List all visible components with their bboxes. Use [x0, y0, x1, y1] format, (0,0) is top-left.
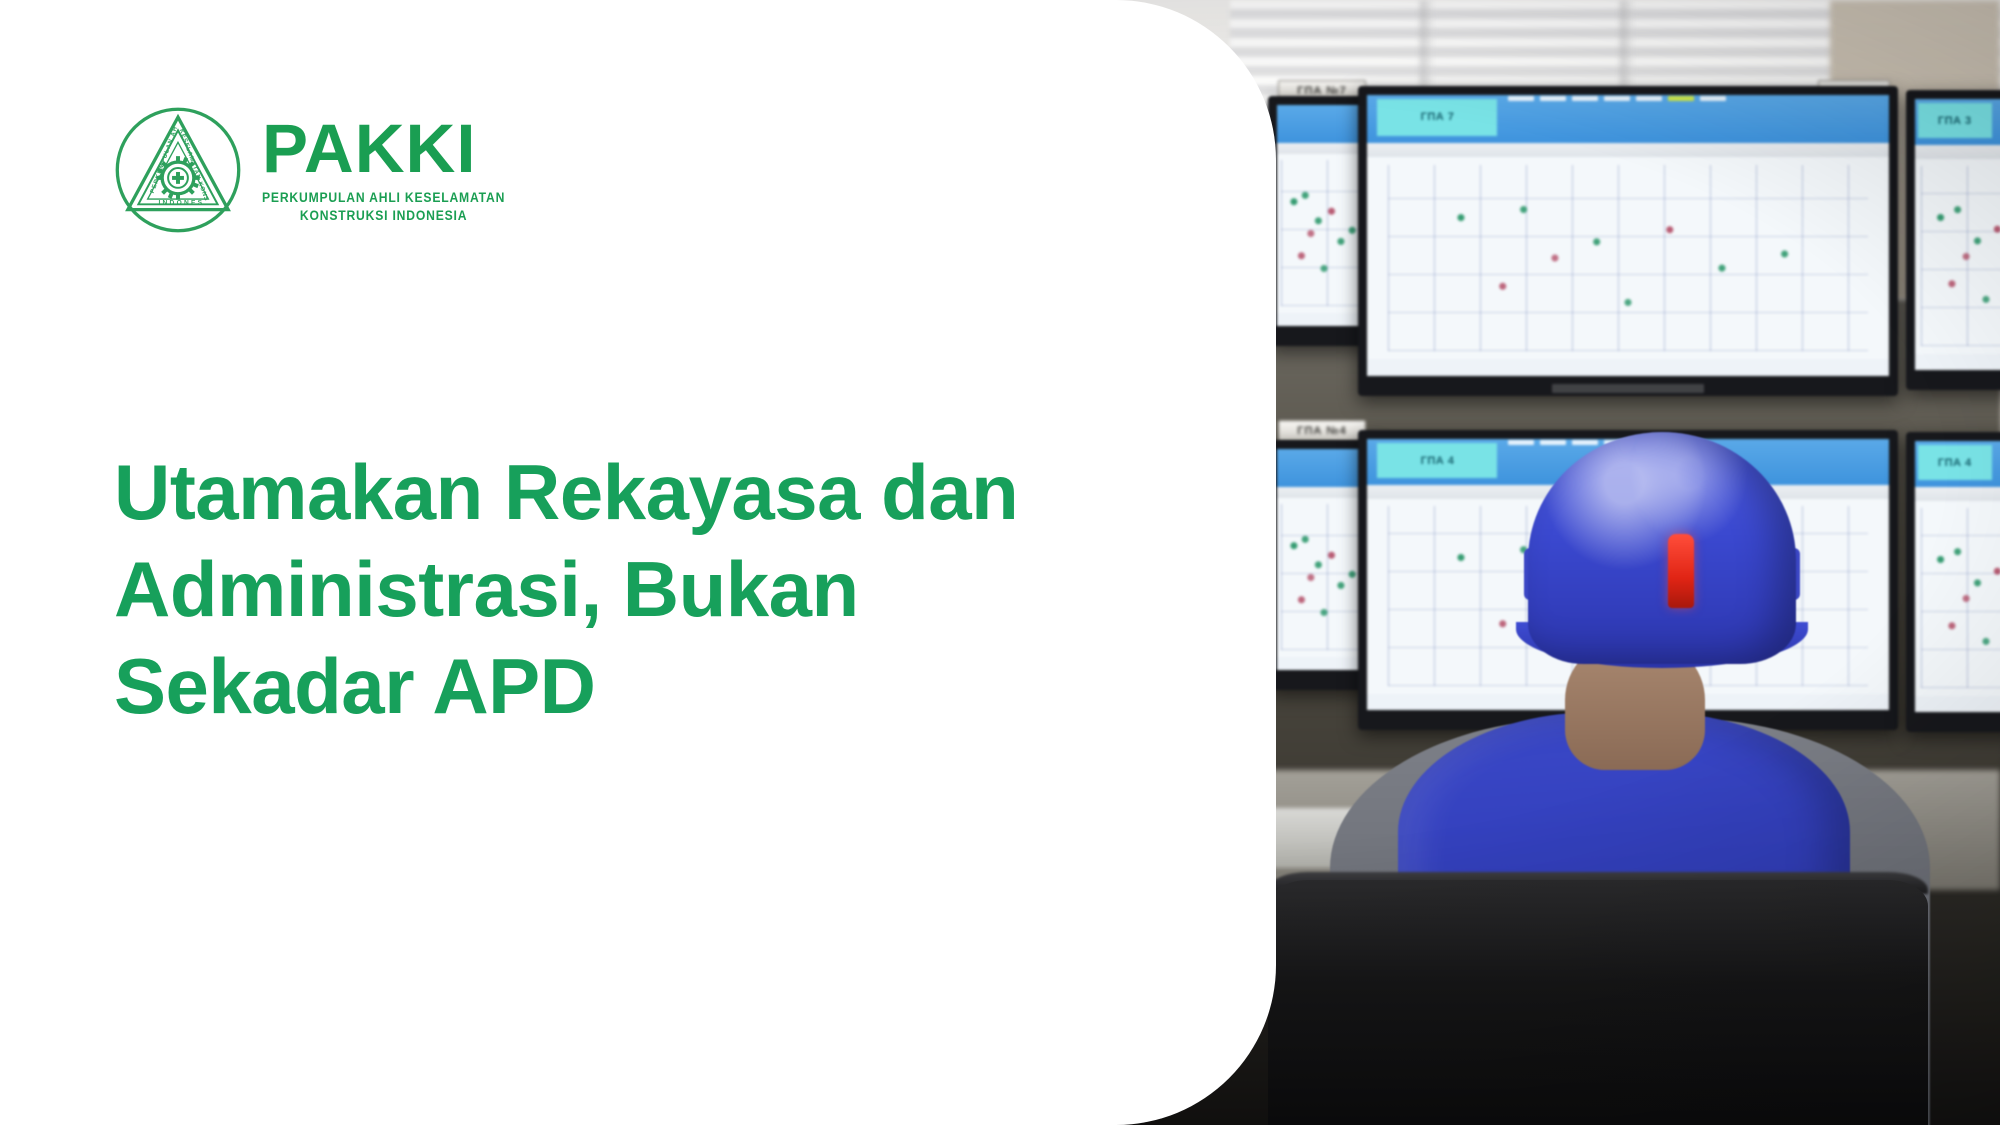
scada-screen-tag: ГПА 7 [1377, 99, 1497, 136]
scada-tool-icon [1508, 96, 1534, 101]
scada-subbar [1277, 487, 1371, 498]
pakki-logo[interactable]: PERKUMPULAN AHLI KESELAMATAN KONSTRUKSI … [112, 104, 532, 236]
monitor-right-top: ГПА 3 [1906, 90, 2000, 390]
monitor-plate: ГПА №4 [1278, 420, 1366, 442]
pakki-emblem-icon: PERKUMPULAN AHLI KESELAMATAN KONSTRUKSI … [112, 104, 244, 236]
monitor-center-top: ГПА 7 [1358, 86, 1898, 396]
monitor-right-bottom: ГПА 4 [1906, 432, 2000, 732]
brand-tagline: PERKUMPULAN AHLI KESELAMATAN KONSTRUKSI … [262, 189, 505, 225]
scada-diagram [1915, 159, 2000, 354]
monitor-brand-label [1552, 384, 1703, 393]
scada-screen-tag: ГПА 3 [1918, 103, 1992, 138]
page-title: Utamakan Rekayasa dan Administrasi, Buka… [114, 444, 1194, 734]
scada-tool-icon [1540, 96, 1566, 101]
scada-tool-icon [1636, 96, 1662, 101]
pakki-wordmark: PAKKI PERKUMPULAN AHLI KESELAMATAN KONST… [262, 115, 532, 225]
scada-diagram [1915, 501, 2000, 696]
scada-subbar [1915, 487, 2000, 501]
scada-subbar [1367, 143, 1889, 157]
monitor-screen: ГПА 7 [1367, 95, 1889, 376]
scada-tool-icon [1540, 440, 1566, 445]
scada-toolbar [1277, 449, 1371, 487]
monitor-screen: ГПА 3 [1915, 99, 2000, 370]
scada-screen-tag: ГПА 4 [1918, 445, 1992, 480]
scada-subbar [1277, 143, 1371, 154]
content-panel: PERKUMPULAN AHLI KESELAMATAN KONSTRUKSI … [0, 0, 1276, 1125]
scada-diagram [1367, 157, 1889, 359]
headline-line-1: Utamakan Rekayasa dan [114, 444, 1194, 541]
monitor-screen: ГПА 4 [1915, 441, 2000, 712]
headline-line-2: Administrasi, Bukan [114, 541, 1194, 638]
scada-diagram [1277, 498, 1371, 657]
monitor-screen [1277, 105, 1371, 326]
scada-tool-icon [1572, 440, 1598, 445]
monitor-screen [1277, 449, 1371, 670]
scada-diagram [1277, 154, 1371, 313]
office-chair [1268, 880, 1928, 1125]
svg-text:KESELAMATAN KONSTRUKSI: KESELAMATAN KONSTRUKSI [112, 104, 209, 202]
helmet-beacon-light [1668, 534, 1694, 608]
scada-tool-icons [1508, 96, 1879, 101]
scada-tool-icon [1700, 96, 1726, 101]
scada-tool-icon [1508, 440, 1534, 445]
slide-canvas: ГПА №7 ГПА №4 [0, 0, 2000, 1125]
brand-name: PAKKI [262, 115, 532, 183]
scada-subbar [1915, 145, 2000, 159]
scada-tool-icon [1604, 96, 1630, 101]
scada-tool-icon-active [1668, 96, 1694, 101]
scada-screen-tag: ГПА 4 [1377, 443, 1497, 478]
brand-tagline-line1: PERKUMPULAN AHLI KESELAMATAN [262, 189, 505, 207]
brand-tagline-line2: KONSTRUKSI INDONESIA [262, 207, 505, 225]
scada-toolbar [1277, 105, 1371, 143]
headline-line-3: Sekadar APD [114, 638, 1194, 735]
scada-tool-icon [1572, 96, 1598, 101]
